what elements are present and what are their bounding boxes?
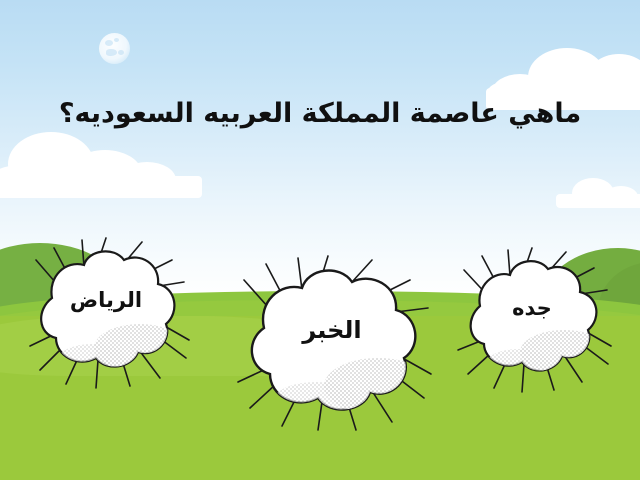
moon-crater — [118, 50, 124, 55]
answer-option-riyadh[interactable]: الرياض — [22, 236, 190, 392]
sky-cloud-small — [556, 178, 640, 208]
burst-bubble-shape — [22, 236, 190, 392]
burst-bubble-shape — [452, 246, 612, 394]
answer-option-khobar[interactable]: الخبر — [232, 254, 432, 430]
moon-crater — [106, 49, 117, 56]
moon-crater — [114, 38, 119, 42]
question-text: ماهي عاصمة المملكة العربيه السعوديه؟ — [0, 97, 640, 131]
answer-option-jeddah[interactable]: جده — [452, 246, 612, 394]
cloud-base — [0, 176, 202, 198]
sky-cloud-left — [0, 132, 220, 198]
burst-bubble-shape — [232, 254, 432, 430]
moon-crater — [105, 40, 113, 46]
quiz-slide: ماهي عاصمة المملكة العربيه السعوديه؟ — [0, 0, 640, 480]
cloud-base — [556, 194, 640, 208]
moon-icon — [99, 33, 130, 64]
